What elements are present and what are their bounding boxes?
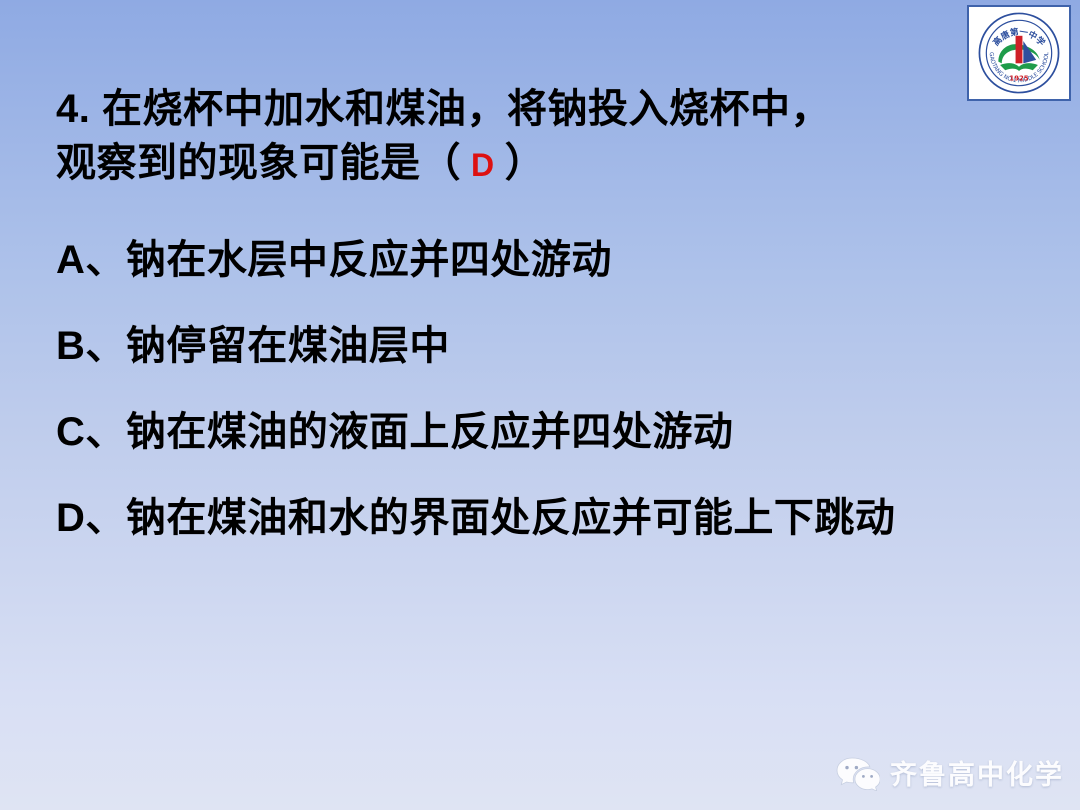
question-line-2-text: 观察到的现象可能是（ — [56, 141, 461, 185]
slide-content: 4. 在烧杯中加水和煤油，将钠投入烧杯中， 观察到的现象可能是（D） A、钠在水… — [56, 82, 1046, 544]
question-block: 4. 在烧杯中加水和煤油，将钠投入烧杯中， 观察到的现象可能是（D） — [56, 82, 1046, 192]
option-c[interactable]: C、钠在煤油的液面上反应并四处游动 — [56, 406, 1046, 458]
option-c-label: C、 — [56, 410, 126, 454]
option-b-label: B、 — [56, 324, 126, 368]
option-d[interactable]: D、钠在煤油和水的界面处反应并可能上下跳动 — [56, 492, 1046, 544]
option-b[interactable]: B、钠停留在煤油层中 — [56, 320, 1046, 372]
question-line-2: 观察到的现象可能是（D） — [56, 136, 1046, 192]
wechat-icon — [836, 755, 880, 791]
question-paren-close: ） — [505, 141, 546, 185]
option-a[interactable]: A、钠在水层中反应并四处游动 — [56, 234, 1046, 286]
watermark-text: 齐鲁高中化学 — [890, 753, 1064, 792]
slide-canvas: 高唐第一中学 GAOTANG NO.1 MIDDLE SCHOOL 1925 4… — [0, 0, 1080, 810]
option-b-text: 钠停留在煤油层中 — [126, 324, 450, 368]
wechat-watermark: 齐鲁高中化学 — [836, 753, 1064, 792]
question-line-1: 4. 在烧杯中加水和煤油，将钠投入烧杯中， — [56, 82, 1046, 136]
option-d-label: D、 — [56, 496, 126, 540]
option-c-text: 钠在煤油的液面上反应并四处游动 — [126, 410, 734, 454]
option-a-text: 钠在水层中反应并四处游动 — [126, 238, 612, 282]
answer-mark: D — [461, 147, 505, 183]
option-d-text: 钠在煤油和水的界面处反应并可能上下跳动 — [126, 496, 896, 540]
option-a-label: A、 — [56, 238, 126, 282]
